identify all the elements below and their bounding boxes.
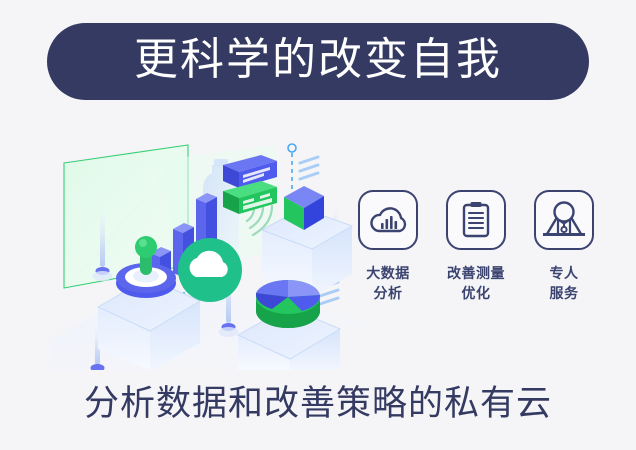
pie-chart-icon [256, 280, 320, 328]
feature-icon-frame [534, 190, 594, 250]
feature-list: 大数据 分析 改善测量 [352, 190, 600, 330]
isometric-illustration [40, 125, 370, 370]
feature-label-service: 专人 服务 [550, 263, 579, 304]
feature-label-big-data: 大数据 分析 [366, 263, 410, 304]
cloud-badge [178, 238, 242, 302]
feature-label-measurement: 改善测量 优化 [447, 263, 505, 304]
doctor-person-icon [541, 200, 587, 240]
feature-item-big-data[interactable]: 大数据 分析 [352, 190, 424, 304]
footer-headline: 分析数据和改善策略的私有云 [0, 383, 636, 425]
feature-item-service[interactable]: 专人 服务 [528, 190, 600, 304]
feature-icon-frame [446, 190, 506, 250]
feature-item-measurement[interactable]: 改善测量 优化 [440, 190, 512, 304]
page-title: 更科学的改变自我 [134, 38, 502, 85]
clipboard-icon [459, 201, 493, 239]
header-banner: 更科学的改变自我 [47, 23, 589, 100]
feature-icon-frame [358, 190, 418, 250]
poster-root: 更科学的改变自我 [0, 0, 636, 450]
cloud-bar-chart-icon [368, 204, 408, 236]
